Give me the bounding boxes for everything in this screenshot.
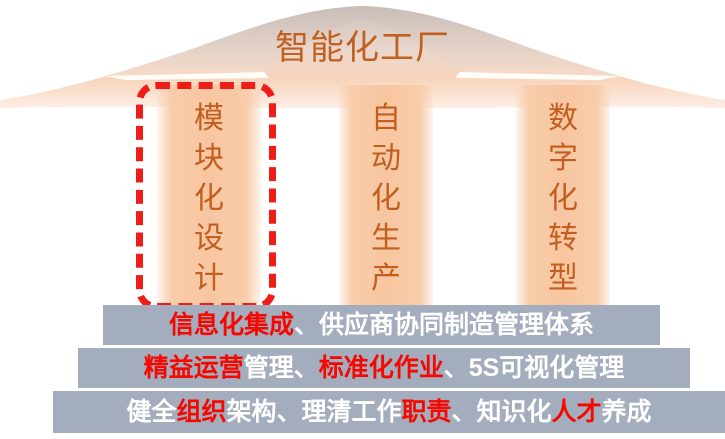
diagram-canvas: 智能化工厂 模 块 化 设 计 自 动 化 生 产 数 字 化 转 型 信息化集… [0,0,725,439]
pillar-char: 自 [371,99,401,139]
foundation-bar-organization-talent[interactable]: 健全组织架构、理清工作职责、知识化人才养成 [53,391,725,433]
bar-text-segment: 、供应商协同制造管理体系 [294,311,594,339]
foundation-bar-lean-operations[interactable]: 精益运营管理、标准化作业、5S可视化管理 [78,348,690,388]
bar-text-segment: 架构、理清工作 [226,398,401,426]
pillar-char: 型 [548,259,578,299]
pillar-char: 数 [548,99,578,139]
bar-text-segment: 职责 [401,398,451,426]
pillar-char: 产 [371,259,401,299]
bar-text-segment: 人才 [552,398,602,426]
bar-text-segment: 组织 [176,398,226,426]
pillar-char: 化 [371,179,401,219]
page-title: 智能化工厂 [0,30,725,68]
bar-text-segment: 标准化作业 [319,354,444,382]
bar-text-segment: 养成 [602,398,652,426]
pillar-char: 化 [548,179,578,219]
pillar-char: 生 [371,219,401,259]
bar-text-segment: 、知识化 [452,398,552,426]
highlight-dashed-box [136,82,276,310]
pillar-automated-production[interactable]: 自 动 化 生 产 [339,85,433,307]
bar-text-segment: 、5S可视化管理 [444,354,625,382]
pillar-char: 字 [548,139,578,179]
bar-text-segment: 健全 [126,398,176,426]
pillar-char: 转 [548,219,578,259]
bar-text-segment: 管理、 [244,354,319,382]
foundation-bar-information-integration[interactable]: 信息化集成、供应商协同制造管理体系 [103,305,660,345]
pillar-char: 动 [371,139,401,179]
bar-text-segment: 精益运营 [144,354,244,382]
bar-text-segment: 信息化集成 [169,311,294,339]
pillar-digital-transformation[interactable]: 数 字 化 转 型 [516,85,610,307]
